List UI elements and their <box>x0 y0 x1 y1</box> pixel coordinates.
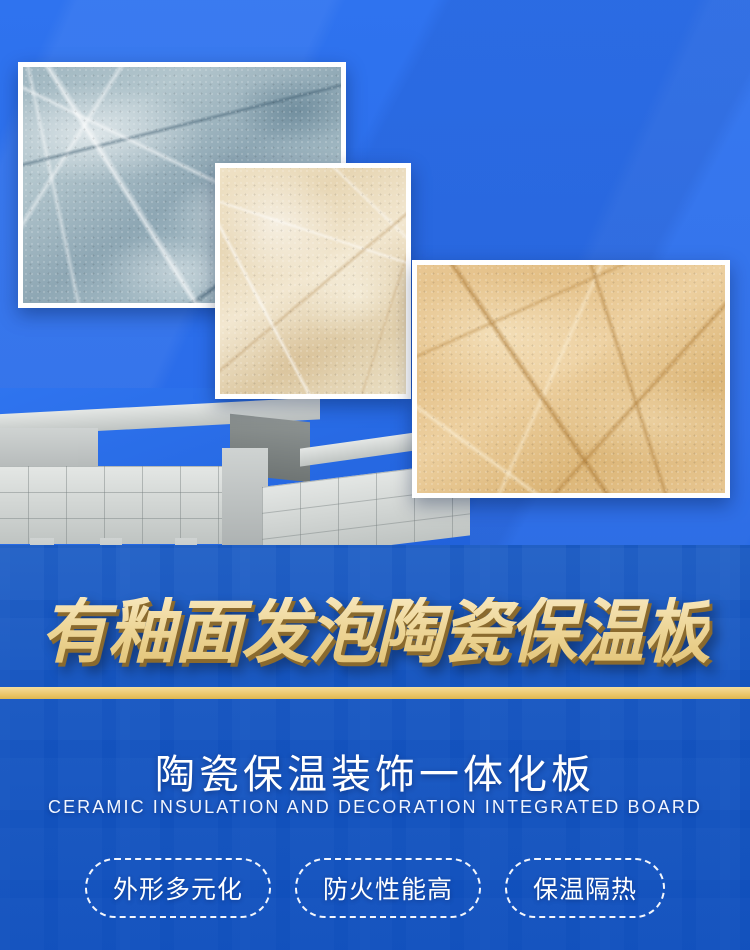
gold-divider-bar <box>0 687 750 699</box>
subtitle-chinese: 陶瓷保温装饰一体化板 <box>0 742 750 800</box>
tile-sample-3[interactable] <box>412 260 730 498</box>
tile-texture-golden-marble <box>417 265 725 493</box>
wall-panel-grid-left <box>0 466 230 544</box>
tile-speckle <box>417 265 725 493</box>
tile-speckle <box>220 168 406 394</box>
product-banner: 有釉面发泡陶瓷保温板 陶瓷保温装饰一体化板 CERAMIC INSULATION… <box>0 0 750 950</box>
tile-sample-2[interactable] <box>215 163 411 399</box>
subtitle-english: CERAMIC INSULATION AND DECORATION INTEGR… <box>0 797 750 818</box>
feature-tag-list: 外形多元化 防火性能高 保温隔热 <box>0 858 750 918</box>
page-title: 有釉面发泡陶瓷保温板 <box>40 597 709 667</box>
tile-texture-cream-travertine <box>220 168 406 394</box>
feature-tag-1[interactable]: 外形多元化 <box>85 858 271 918</box>
main-title-block: 有釉面发泡陶瓷保温板 <box>0 586 750 678</box>
feature-tag-2[interactable]: 防火性能高 <box>295 858 481 918</box>
feature-tag-3[interactable]: 保温隔热 <box>505 858 665 918</box>
